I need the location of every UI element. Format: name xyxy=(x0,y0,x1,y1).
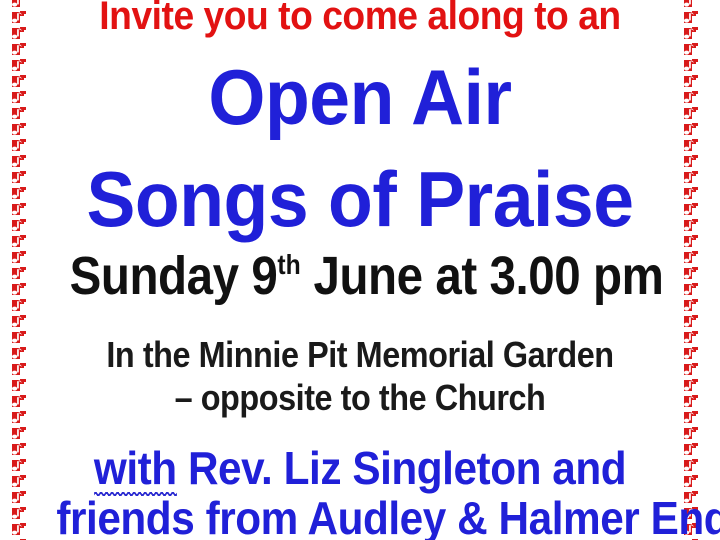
music-note-icon xyxy=(680,122,702,138)
music-note-icon xyxy=(680,266,702,282)
date-time-line: Sunday 9th June at 3.00 pm xyxy=(70,249,651,303)
right-music-note-border xyxy=(678,0,704,540)
music-note-icon xyxy=(8,10,30,26)
music-note-icon xyxy=(680,58,702,74)
music-note-icon xyxy=(8,90,30,106)
music-note-icon xyxy=(680,90,702,106)
music-note-icon xyxy=(680,26,702,42)
music-note-icon xyxy=(8,346,30,362)
music-note-icon xyxy=(8,426,30,442)
people-line-2-after: End xyxy=(639,492,720,540)
music-note-icon xyxy=(680,250,702,266)
music-note-icon xyxy=(680,442,702,458)
music-note-icon xyxy=(680,218,702,234)
music-note-icon xyxy=(680,234,702,250)
music-note-icon xyxy=(680,314,702,330)
spelling-flagged-word: Halmer xyxy=(499,495,640,540)
people-line-2: friends from Audley & Halmer End xyxy=(56,495,663,540)
music-note-icon xyxy=(680,170,702,186)
music-note-icon xyxy=(680,362,702,378)
left-music-note-border xyxy=(6,0,32,540)
music-note-icon xyxy=(680,378,702,394)
music-note-icon xyxy=(680,10,702,26)
title-line-open-air: Open Air xyxy=(50,58,670,136)
music-note-icon xyxy=(680,42,702,58)
music-note-icon xyxy=(8,218,30,234)
music-note-icon xyxy=(8,394,30,410)
music-note-icon xyxy=(8,154,30,170)
music-note-icon xyxy=(8,122,30,138)
music-note-icon xyxy=(8,314,30,330)
music-note-icon xyxy=(680,330,702,346)
title-line-songs-of-praise: Songs of Praise xyxy=(50,160,670,238)
music-note-icon xyxy=(680,0,702,10)
music-note-icon xyxy=(8,522,30,538)
music-note-icon xyxy=(8,474,30,490)
music-note-icon xyxy=(8,410,30,426)
music-note-icon xyxy=(8,74,30,90)
invite-line: Invite you to come along to an xyxy=(53,0,667,36)
people-line-2-before: friends from Audley & xyxy=(56,492,498,540)
music-note-icon xyxy=(8,490,30,506)
music-note-icon xyxy=(8,362,30,378)
music-note-icon xyxy=(680,458,702,474)
music-note-icon xyxy=(8,250,30,266)
music-note-icon xyxy=(8,458,30,474)
date-day-number: 9 xyxy=(251,246,277,306)
music-note-icon xyxy=(8,234,30,250)
music-note-icon xyxy=(8,186,30,202)
music-note-icon xyxy=(8,330,30,346)
music-note-icon xyxy=(8,58,30,74)
music-note-icon xyxy=(8,170,30,186)
music-note-icon xyxy=(680,202,702,218)
music-note-icon xyxy=(8,202,30,218)
date-ordinal-suffix: th xyxy=(277,249,300,280)
music-note-icon xyxy=(680,474,702,490)
music-note-icon xyxy=(8,266,30,282)
venue-line-1: In the Minnie Pit Memorial Garden xyxy=(63,337,657,373)
music-note-icon xyxy=(8,138,30,154)
music-note-icon xyxy=(680,74,702,90)
music-note-icon xyxy=(680,186,702,202)
music-note-icon xyxy=(680,106,702,122)
date-day-name: Sunday xyxy=(70,246,239,306)
poster-canvas: Invite you to come along to an Open Air … xyxy=(0,0,720,540)
people-line-1-rest: Rev. Liz Singleton and xyxy=(177,442,626,494)
music-note-icon xyxy=(680,298,702,314)
music-note-icon xyxy=(8,378,30,394)
music-note-icon xyxy=(680,426,702,442)
music-note-icon xyxy=(8,506,30,522)
music-note-icon xyxy=(680,138,702,154)
music-note-icon xyxy=(8,282,30,298)
music-note-icon xyxy=(8,26,30,42)
music-note-icon xyxy=(8,298,30,314)
date-month-time: June at 3.00 pm xyxy=(301,246,664,306)
grammar-flagged-word: with xyxy=(94,445,177,491)
music-note-icon xyxy=(8,442,30,458)
music-note-icon xyxy=(680,282,702,298)
venue-line-2: – opposite to the Church xyxy=(63,380,657,416)
music-note-icon xyxy=(8,42,30,58)
music-note-icon xyxy=(680,346,702,362)
people-line-1: with Rev. Liz Singleton and xyxy=(56,445,663,491)
music-note-icon xyxy=(680,410,702,426)
music-note-icon xyxy=(8,0,30,10)
music-note-icon xyxy=(8,106,30,122)
music-note-icon xyxy=(680,154,702,170)
music-note-icon xyxy=(680,394,702,410)
